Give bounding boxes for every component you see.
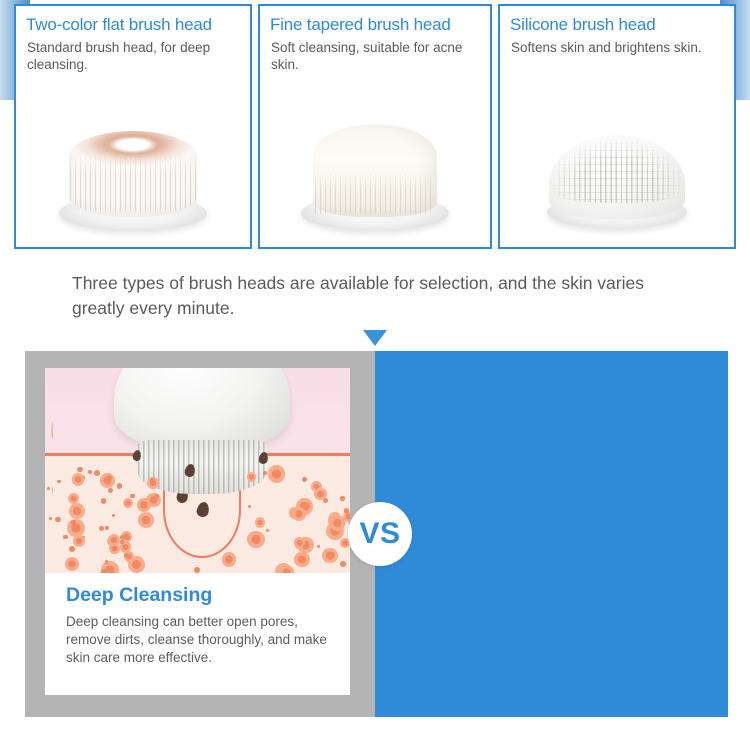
sebum-blob [292,507,306,521]
brush-head-card-silicone[interactable]: Silicone brush head Softens skin and bri… [498,4,736,249]
sebum-blob [268,465,286,483]
sebum-blob [340,496,345,501]
brush-head-card-two-color-flat[interactable]: Two-color flat brush head Standard brush… [14,4,252,249]
sebum-blob [255,517,265,527]
sebum-blob [222,552,236,566]
sebum-blob [247,472,256,481]
card-description: Softens skin and brightens skin. [511,39,722,56]
card-description: Standard brush head, for deep cleansing. [27,39,238,73]
sebum-blob [194,567,200,573]
comparison-half-deep [375,351,728,717]
deep-cleansing-illustration [53,368,350,573]
sebum-blob [65,557,79,571]
card-title: Two-color flat brush head [26,15,250,35]
sebum-blob [73,535,85,547]
sebum-blob [108,534,120,546]
sebum-blob [72,473,85,486]
section-caption: Three types of brush heads are available… [72,271,692,321]
sebum-blob [124,553,128,557]
brush-head-image-silicone [500,109,734,239]
brush-head-card-fine-tapered[interactable]: Fine tapered brush head Soft cleansing, … [258,4,492,249]
deep-cleansing-panel[interactable]: Deep Cleansing Deep cleansing can better… [53,368,350,695]
cleansing-device-body [114,368,290,450]
brush-head-image-fine-tapered [260,109,490,239]
card-title: Fine tapered brush head [270,15,490,35]
sebum-blob [294,552,310,568]
deep-cleansing-caption: Deep Cleansing Deep cleansing can better… [53,573,350,679]
sebum-blob [67,519,85,537]
sebum-blob [117,483,122,488]
brush-bristle-texture [70,155,196,215]
dirt-particle [195,501,210,518]
silicone-nubs-texture [548,129,686,203]
card-title: Silicone brush head [510,15,734,35]
panel-body-text: Deep cleansing can better open pores, re… [66,613,337,667]
sebum-blob [279,565,294,573]
sebum-blob [77,467,83,473]
sebum-blob [105,526,109,530]
sebum-blob [137,498,151,512]
sebum-blob [330,515,346,531]
sebum-blob [101,569,107,574]
comparison-section: Manual cleansing Manual cleansing can no… [25,351,728,717]
sebum-blob [130,494,135,499]
vs-badge: VS [348,502,412,566]
panel-title: Deep Cleansing [66,583,337,607]
sebum-blob [154,494,159,499]
sebum-blob [57,480,60,483]
brush-head-cards-section: Two-color flat brush head Standard brush… [0,0,750,255]
brush-bristle-texture [315,172,435,216]
triangle-down-icon [363,330,387,346]
brush-head-image-two-color-flat [16,109,250,239]
sebum-blob [47,487,50,490]
sebum-blob [248,505,252,509]
sebum-blob [112,514,115,517]
sebum-blob [128,556,145,573]
card-description: Soft cleansing, suitable for acne skin. [271,39,478,73]
